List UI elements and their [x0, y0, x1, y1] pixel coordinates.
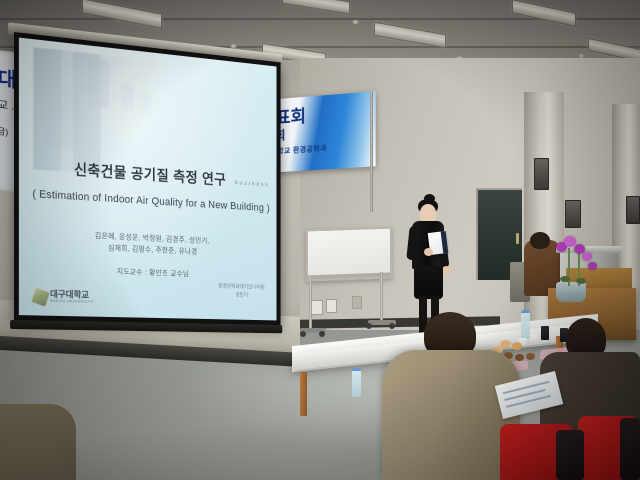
plant-pot [556, 282, 586, 302]
slide-authors: 김은혜, 윤성운, 박정원, 김경주, 성민기, 심재희, 김평수, 주현준, … [36, 227, 263, 260]
wall-speaker-icon [534, 158, 549, 190]
ceiling-light-icon [374, 22, 446, 49]
snack-piece [515, 354, 524, 361]
presenter-hand [442, 266, 451, 274]
ceiling-sprinkler-icon [230, 44, 237, 48]
ceiling-sprinkler-icon [352, 20, 359, 24]
water-bottle [352, 368, 361, 397]
slide-credit-line-1: 환경공학과대기모니터링 [218, 283, 264, 292]
whiteboard-wheel [389, 323, 395, 329]
wall-outlet [352, 296, 362, 309]
ceiling-light-icon [82, 0, 162, 29]
screen-frame: business 신축건물 공기질 측정 연구 ( Estimation of … [14, 32, 281, 325]
presenter-hand [424, 248, 433, 256]
presentation-room-photo: 대 교 . (금) 발표회 표회 구대학교 환경공학과 business 신축건… [0, 0, 640, 480]
university-logo: 대구대학교 DAEGU UNIVERSITY [33, 289, 94, 305]
table-leg [300, 372, 307, 416]
logo-diamond-icon [31, 288, 49, 307]
whiteboard-wheel [366, 323, 372, 329]
slide-credit-line-2: 성민기 [218, 291, 264, 300]
snack-piece [526, 353, 535, 360]
slide-image-collage [33, 47, 182, 179]
projection-screen: business 신축건물 공기질 측정 연구 ( Estimation of … [14, 32, 281, 336]
bread-roll [512, 342, 522, 350]
logo-text-english: DAEGU UNIVERSITY [50, 299, 94, 305]
beverage-can [541, 326, 549, 340]
seat-backrest [620, 418, 640, 480]
presentation-slide: business 신축건물 공기질 측정 연구 ( Estimation of … [19, 38, 277, 321]
ceiling-light-icon [282, 0, 350, 14]
whiteboard-wheel [319, 331, 325, 337]
presenter-skirt [414, 266, 443, 299]
banner-left-line2: 교 . [0, 96, 14, 114]
paper-cup [530, 334, 538, 343]
whiteboard-leg [309, 276, 312, 330]
banner-pole [370, 92, 373, 212]
slide-advisor: 지도교수 : 황민조 교수님 [36, 263, 263, 282]
audience-left-edge [0, 404, 76, 480]
door-handle[interactable] [516, 233, 519, 244]
seated-attendee-head [530, 232, 550, 249]
whiteboard-leg [380, 272, 383, 322]
wall-outlet [326, 299, 337, 313]
slide-subtitle: ( Estimation of Indoor Air Quality for a… [30, 188, 272, 214]
seat-backrest [556, 430, 584, 480]
water-bottle [521, 310, 530, 339]
whiteboard-wheel [300, 331, 306, 337]
wall-speaker-icon [626, 196, 640, 224]
banner-left-line3: (금) [0, 124, 8, 139]
wall-speaker-icon [565, 200, 581, 228]
slide-credit: 환경공학과대기모니터링 성민기 [218, 283, 264, 300]
ceiling-light-icon [512, 0, 576, 27]
